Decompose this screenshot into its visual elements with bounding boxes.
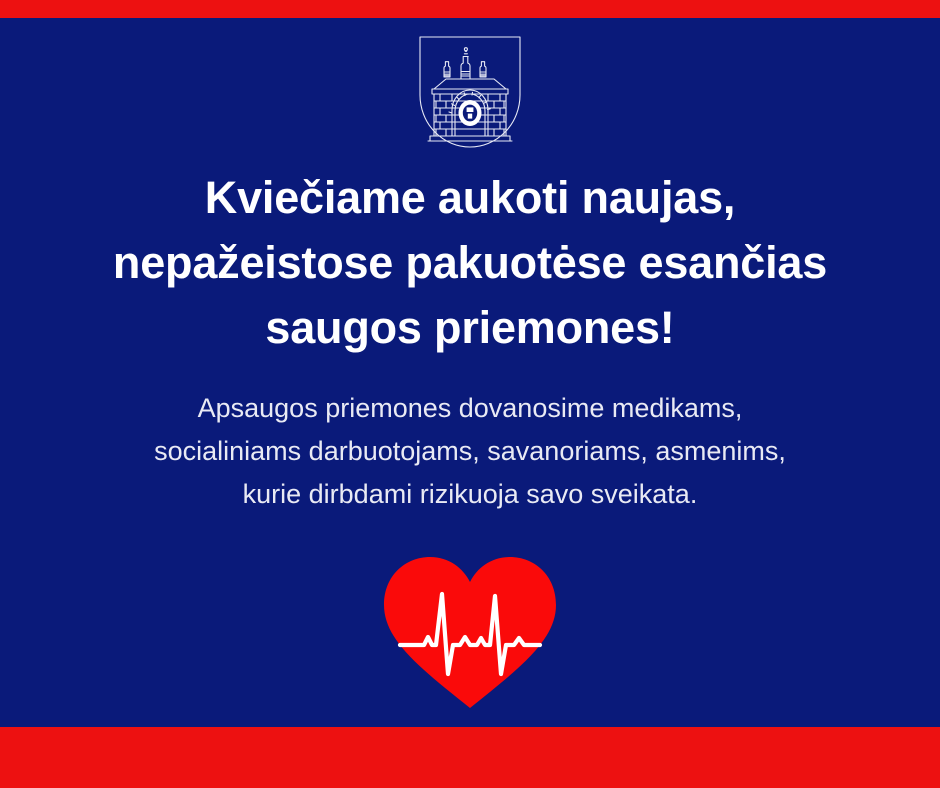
page-title: Kviečiame aukoti naujas, nepažeistose pa…	[40, 165, 900, 360]
headline-line-1: Kviečiame aukoti naujas,	[40, 165, 900, 230]
subtext-line-2: socialiniams darbuotojams, savanoriams, …	[70, 430, 870, 473]
bottom-accent-band	[0, 727, 940, 788]
poster: Kviečiame aukoti naujas, nepažeistose pa…	[0, 0, 940, 788]
top-accent-band	[0, 0, 940, 18]
subtitle-text: Apsaugos priemones dovanosime medikams, …	[70, 387, 870, 516]
heart-with-heartbeat-icon	[380, 552, 560, 712]
headline-line-3: saugos priemones!	[40, 295, 900, 360]
subtext-line-3: kurie dirbdami rizikuoja savo sveikata.	[70, 473, 870, 516]
coat-of-arms-shield	[416, 33, 524, 151]
heart-shape	[384, 557, 556, 708]
subtext-line-1: Apsaugos priemones dovanosime medikams,	[70, 387, 870, 430]
poster-content: Kviečiame aukoti naujas, nepažeistose pa…	[0, 18, 940, 727]
headline-line-2: nepažeistose pakuotėse esančias	[40, 230, 900, 295]
